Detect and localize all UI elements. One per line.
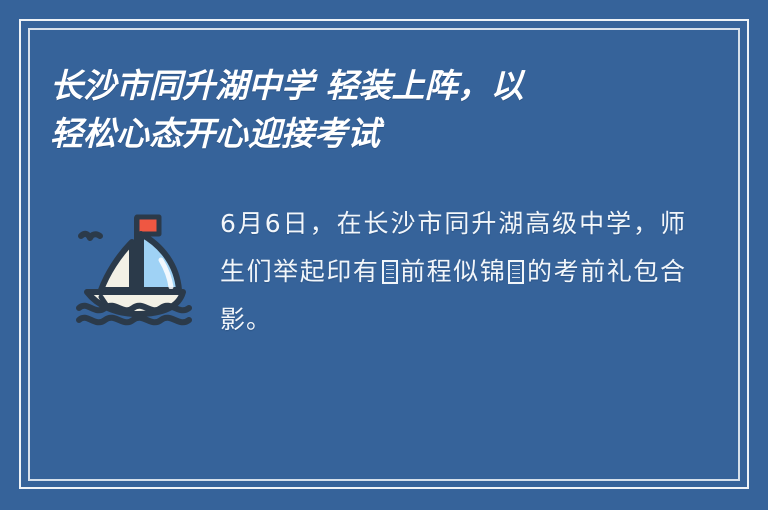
body-segment-2: 前程似锦 [400,257,507,286]
illustration-container [60,200,210,326]
article-card: 长沙市同升湖中学 轻装上阵，以 轻松心态开心迎接考试 [0,0,768,510]
missing-glyph-box-open [382,260,398,284]
page-title: 长沙市同升湖中学 轻装上阵，以 轻松心态开心迎接考试 [50,62,710,158]
content-row: 6月6日，在长沙市同升湖高级中学，师生们举起印有前程似锦的考前礼包合影。 [60,200,700,344]
missing-glyph-box-close [508,260,524,284]
sailboat-icon [75,208,195,326]
article-body: 6月6日，在长沙市同升湖高级中学，师生们举起印有前程似锦的考前礼包合影。 [210,200,700,344]
